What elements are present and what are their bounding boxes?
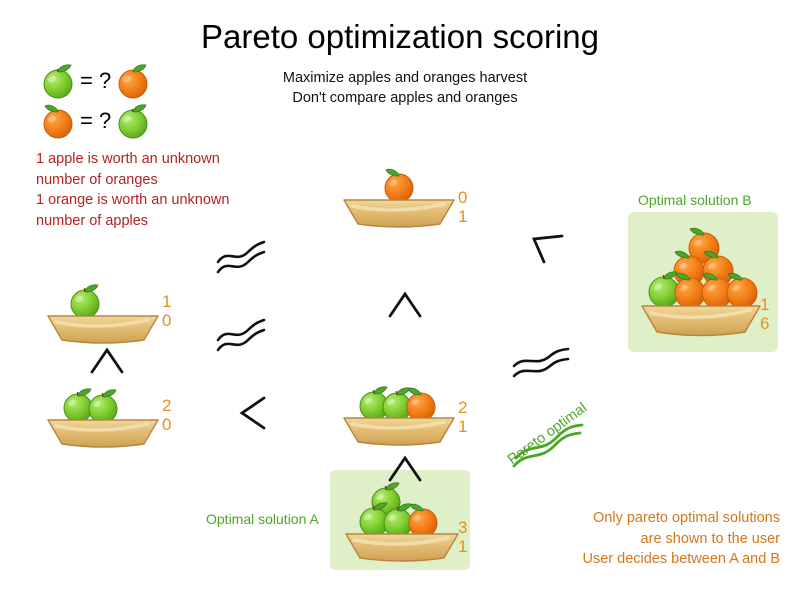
- apple-score: 1: [760, 295, 769, 314]
- unknown-note-line-1: 1 apple is worth an unknown: [36, 149, 296, 170]
- unknown-value-note: 1 apple is worth an unknown number of or…: [36, 149, 296, 231]
- apple-score: 2: [162, 396, 171, 415]
- unknown-note-line-4: number of apples: [36, 211, 296, 232]
- apple-icon: [649, 272, 679, 307]
- fruit-bowl-icon: [40, 278, 166, 346]
- bowl-0-1-score: 0 1: [458, 188, 467, 226]
- incomparable-wave-icon: [214, 318, 274, 354]
- equation-orange-equals-apple: = ?: [38, 100, 155, 142]
- less-than-up-icon: [88, 344, 126, 376]
- incomparable-wave-icon: [214, 240, 274, 276]
- incomparable-wave-icon: [510, 348, 574, 382]
- optimal-solution-b-label: Optimal solution B: [638, 192, 752, 208]
- equation-operator: = ?: [80, 68, 111, 94]
- apple-score: 1: [162, 292, 171, 311]
- user-note-line-1: Only pareto optimal solutions: [490, 508, 780, 529]
- orange-score: 1: [458, 417, 467, 436]
- less-than-up-icon: [386, 288, 424, 320]
- unknown-note-line-3: 1 orange is worth an unknown: [36, 190, 296, 211]
- orange-icon: [113, 60, 155, 102]
- bowl-3-1-score: 3 1: [458, 518, 467, 556]
- fruit-bowl-icon: [336, 478, 468, 564]
- user-decision-note: Only pareto optimal solutions are shown …: [490, 508, 780, 570]
- bowl-0-apples-1-orange: [336, 162, 462, 230]
- apple-score: 3: [458, 518, 467, 537]
- fruit-bowl-icon: [40, 382, 166, 450]
- bowl-2-apples-1-orange: [336, 380, 462, 448]
- orange-score: 1: [458, 207, 467, 226]
- apple-icon: [71, 285, 99, 318]
- subtitle: Maximize apples and oranges harvest Don'…: [230, 68, 580, 108]
- fruit-bowl-icon: [336, 380, 462, 448]
- subtitle-line-1: Maximize apples and oranges harvest: [230, 68, 580, 88]
- page-title: Pareto optimization scoring: [0, 18, 800, 56]
- equation-apple-equals-orange: = ?: [38, 60, 155, 102]
- bowl-1-6-score: 1 6: [760, 295, 769, 333]
- bowl-1-apple-0-oranges: [40, 278, 166, 346]
- optimal-solution-a-label: Optimal solution A: [206, 511, 319, 527]
- apple-icon: [89, 390, 117, 423]
- bowl-2-0-score: 2 0: [162, 396, 171, 434]
- user-note-line-3: User decides between A and B: [490, 549, 780, 570]
- apple-score: 0: [458, 188, 467, 207]
- apple-score: 2: [458, 398, 467, 417]
- subtitle-line-2: Don't compare apples and oranges: [230, 88, 580, 108]
- bowl-2-1-score: 2 1: [458, 398, 467, 436]
- less-than-up-icon: [386, 452, 424, 484]
- orange-score: 0: [162, 415, 171, 434]
- orange-icon: [38, 100, 80, 142]
- orange-score: 6: [760, 314, 769, 333]
- orange-score: 1: [458, 537, 467, 556]
- bowl-1-apple-6-oranges: [632, 222, 770, 340]
- unknown-note-line-2: number of oranges: [36, 170, 296, 191]
- user-note-line-2: are shown to the user: [490, 529, 780, 550]
- fruit-bowl-icon: [336, 162, 462, 230]
- orange-score: 0: [162, 311, 171, 330]
- less-than-icon: [236, 394, 270, 432]
- orange-icon: [409, 504, 437, 537]
- apple-icon: [360, 503, 388, 536]
- orange-icon: [407, 388, 435, 421]
- bowl-3-apples-1-orange: [336, 478, 468, 564]
- bowl-1-0-score: 1 0: [162, 292, 171, 330]
- apple-icon: [113, 100, 155, 142]
- fruit-bowl-icon: [632, 222, 770, 340]
- less-than-rotated-icon: [528, 232, 566, 268]
- bowl-2-apples-0-oranges: [40, 382, 166, 450]
- equation-operator: = ?: [80, 108, 111, 134]
- apple-icon: [64, 389, 92, 422]
- orange-icon: [385, 169, 413, 202]
- apple-icon: [38, 60, 80, 102]
